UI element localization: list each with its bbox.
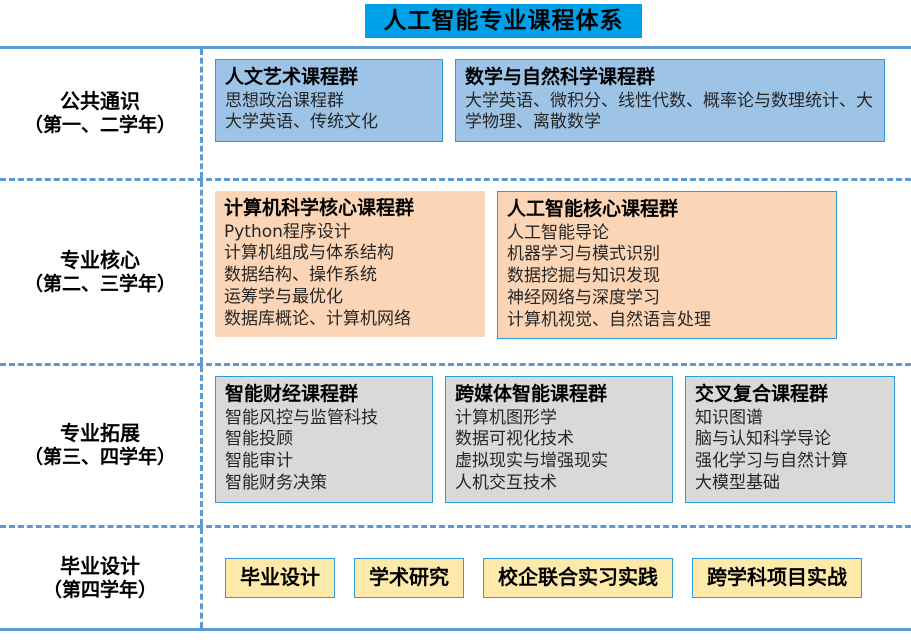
stage-name: 专业拓展 [60,421,140,446]
stage-name: 毕业设计 [60,554,140,579]
stage-years: （第三、四学年） [24,446,176,470]
stage-years: （第二、三学年） [24,273,176,297]
course-item: 虚拟现实与增强现实 [455,451,664,473]
course-item: 运筹学与最优化 [224,287,477,309]
stage-name: 公共通识 [60,89,140,114]
stage-row-graduation-project: 毕业设计 （第四学年） 毕业设计 学术研究 校企联合实习实践 跨学科项目实战 [0,525,911,631]
course-card-interdisciplinary[interactable]: 交叉复合课程群 知识图谱 脑与认知科学导论 强化学习与自然计算 大模型基础 [685,376,895,503]
pill-school-enterprise-internship[interactable]: 校企联合实习实践 [483,558,673,598]
card-group-professional-core: 计算机科学核心课程群 Python程序设计 计算机组成与体系结构 数据结构、操作… [203,181,911,363]
course-item: Python程序设计 [224,222,477,244]
course-item: 思想政治课程群 [225,91,434,113]
course-card-ai-core[interactable]: 人工智能核心课程群 人工智能导论 机器学习与模式识别 数据挖掘与知识发现 神经网… [497,191,837,339]
stage-years: （第四学年） [43,579,157,603]
pill-academic-research[interactable]: 学术研究 [354,558,464,598]
stage-row-professional-extension: 专业拓展 （第三、四学年） 智能财经课程群 智能风控与监管科技 智能投顾 智能审… [0,363,911,525]
course-item: 强化学习与自然计算 [695,451,886,473]
stage-label-graduation-project: 毕业设计 （第四学年） [0,528,200,628]
course-item: 大学英语、传统文化 [225,112,434,134]
course-item: 数据库概论、计算机网络 [224,309,477,331]
stage-label-professional-core: 专业核心 （第二、三学年） [0,181,200,363]
page-title-banner: 人工智能专业课程体系 [365,4,642,38]
stage-years: （第一、二学年） [24,114,176,138]
course-card-computer-science-core[interactable]: 计算机科学核心课程群 Python程序设计 计算机组成与体系结构 数据结构、操作… [215,191,485,337]
pill-interdisciplinary-project[interactable]: 跨学科项目实战 [692,558,862,598]
course-item: 神经网络与深度学习 [507,288,828,310]
card-group-general-education: 人文艺术课程群 思想政治课程群 大学英语、传统文化 数学与自然科学课程群 大学英… [203,49,911,178]
stage-label-general-education: 公共通识 （第一、二学年） [0,49,200,178]
stage-name: 专业核心 [60,248,140,273]
course-card-cross-media-intelligence[interactable]: 跨媒体智能课程群 计算机图形学 数据可视化技术 虚拟现实与增强现实 人机交互技术 [445,376,673,503]
course-item: 大模型基础 [695,473,886,495]
course-item: 智能投顾 [225,429,424,451]
course-item: 计算机视觉、自然语言处理 [507,310,828,332]
course-card-title: 人文艺术课程群 [225,65,434,90]
course-item: 计算机图形学 [455,408,664,430]
course-item: 计算机组成与体系结构 [224,243,477,265]
course-item: 机器学习与模式识别 [507,244,828,266]
course-item: 大学英语、微积分、线性代数、概率论与数理统计、大学物理、离散数学 [465,91,876,135]
stage-row-professional-core: 专业核心 （第二、三学年） 计算机科学核心课程群 Python程序设计 计算机组… [0,178,911,363]
course-item: 人机交互技术 [455,473,664,495]
course-item: 智能财务决策 [225,473,424,495]
stage-label-professional-extension: 专业拓展 （第三、四学年） [0,366,200,525]
course-item: 数据挖掘与知识发现 [507,266,828,288]
course-card-math-natural-science[interactable]: 数学与自然科学课程群 大学英语、微积分、线性代数、概率论与数理统计、大学物理、离… [455,59,885,142]
card-group-professional-extension: 智能财经课程群 智能风控与监管科技 智能投顾 智能审计 智能财务决策 跨媒体智能… [203,366,911,525]
course-item: 智能审计 [225,451,424,473]
course-card-title: 计算机科学核心课程群 [224,196,477,221]
course-item: 知识图谱 [695,408,886,430]
course-card-title: 交叉复合课程群 [695,382,886,407]
course-card-humanities-arts[interactable]: 人文艺术课程群 思想政治课程群 大学英语、传统文化 [215,59,443,142]
course-item: 人工智能导论 [507,223,828,245]
course-item: 脑与认知科学导论 [695,429,886,451]
curriculum-matrix: 公共通识 （第一、二学年） 人文艺术课程群 思想政治课程群 大学英语、传统文化 … [0,46,911,640]
course-item: 数据可视化技术 [455,429,664,451]
course-item: 智能风控与监管科技 [225,408,424,430]
course-card-title: 数学与自然科学课程群 [465,65,876,90]
course-card-smart-finance[interactable]: 智能财经课程群 智能风控与监管科技 智能投顾 智能审计 智能财务决策 [215,376,433,503]
page-title: 人工智能专业课程体系 [384,10,624,33]
course-card-title: 智能财经课程群 [225,382,424,407]
stage-row-general-education: 公共通识 （第一、二学年） 人文艺术课程群 思想政治课程群 大学英语、传统文化 … [0,46,911,178]
course-card-title: 跨媒体智能课程群 [455,382,664,407]
pill-group-graduation-project: 毕业设计 学术研究 校企联合实习实践 跨学科项目实战 [203,528,911,628]
course-card-title: 人工智能核心课程群 [507,197,828,222]
course-item: 数据结构、操作系统 [224,265,477,287]
pill-graduation-design[interactable]: 毕业设计 [225,558,335,598]
